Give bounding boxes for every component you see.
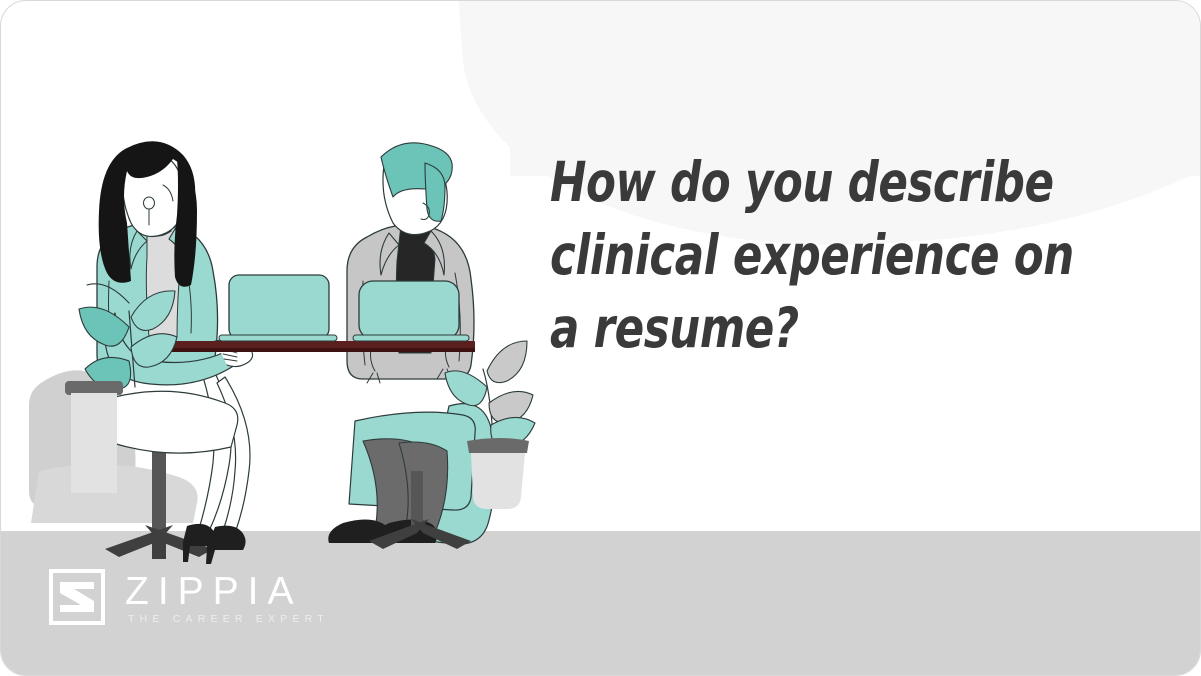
man-laptop-screen <box>359 281 459 339</box>
woman-chair-leg-center <box>152 531 166 559</box>
zippia-wordmark-group: ZIPPIA THE CAREER EXPERT <box>125 570 329 625</box>
zippia-tagline: THE CAREER EXPERT <box>125 614 329 625</box>
woman-earring-top <box>144 197 155 209</box>
plant-left-pot <box>71 393 117 493</box>
woman-laptop-screen <box>229 275 329 339</box>
zippia-z-mark <box>49 569 105 625</box>
man-laptop-base <box>353 335 469 341</box>
woman-skirt <box>113 391 238 453</box>
woman-chair-column <box>152 439 166 537</box>
page-title: How do you describe clinical experience … <box>550 146 1100 365</box>
desk-top <box>151 341 475 349</box>
plant-right-leaf-3 <box>487 341 527 383</box>
zippia-logo[interactable]: ZIPPIA THE CAREER EXPERT <box>49 569 329 625</box>
illustration <box>19 141 559 571</box>
woman-laptop-base <box>219 335 337 341</box>
desk-edge <box>151 348 475 352</box>
plant-right-pot <box>471 453 525 509</box>
plant-right-pot-rim <box>467 438 529 453</box>
promo-card: How do you describe clinical experience … <box>0 0 1201 676</box>
plant-right-leaf-1 <box>445 371 487 406</box>
zippia-wordmark: ZIPPIA <box>125 572 329 611</box>
plant-left-pot-rim <box>65 381 123 395</box>
